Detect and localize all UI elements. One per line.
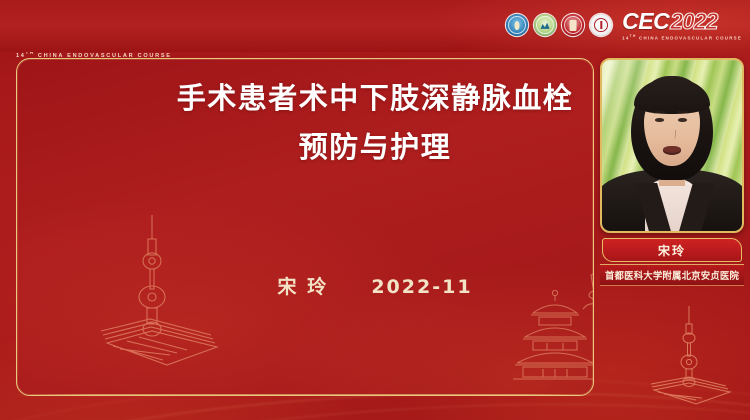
header-cec-sub-text: CHINA ENDOVASCULAR COURSE	[639, 35, 742, 40]
org-logo-1-icon	[506, 14, 528, 36]
speaker-mouth	[663, 146, 681, 155]
header-cec-word: CEC	[622, 10, 669, 33]
speaker-name-label: 宋玲	[658, 242, 686, 259]
slide-cec-sub-text: CHINA ENDOVASCULAR COURSE	[38, 53, 172, 59]
badge-mark	[515, 21, 520, 30]
header-cec-subtitle: 14TH CHINA ENDOVASCULAR COURSE	[622, 35, 742, 41]
header-cec-brand: CEC 2022 14TH CHINA ENDOVASCULAR COURSE	[622, 10, 742, 41]
speaker-affiliation-plate: 首都医科大学附属北京安贞医院	[600, 264, 744, 286]
org-logo-4-icon	[590, 14, 612, 36]
header-cec-row: CEC 2022	[622, 10, 717, 33]
frame-bottom-glow	[16, 394, 594, 396]
presentation-date: 2022-11	[371, 276, 472, 298]
presentation-slide-screenshot: CEC 2022 14TH CHINA ENDOVASCULAR COURSE	[0, 0, 750, 420]
org-logo-2-icon	[534, 14, 556, 36]
org-logo-3-icon	[562, 14, 584, 36]
speaker-eye-left	[655, 118, 664, 122]
temple-of-heaven-icon	[507, 239, 594, 389]
speaker-hair-fringe	[634, 78, 710, 114]
header-cec-year: 2022	[670, 10, 717, 33]
speaker-video-feed[interactable]	[600, 58, 744, 233]
header-cec-ordinal-suffix: TH	[630, 34, 637, 38]
speaker-figure	[602, 60, 742, 231]
presenter-name: 宋 玲	[277, 276, 328, 298]
speaker-eye-right	[678, 118, 687, 122]
badge-ring	[536, 16, 554, 34]
speaker-name-plate: 宋玲	[602, 238, 742, 262]
speaker-video-panel[interactable]: 宋玲 首都医科大学附属北京安贞医院	[600, 58, 744, 293]
header-logo-group: CEC 2022 14TH CHINA ENDOVASCULAR COURSE	[506, 10, 742, 40]
badge-mark	[570, 20, 577, 31]
slide-cec-ordinal: 14	[16, 53, 26, 59]
header-cec-ordinal: 14	[622, 35, 629, 40]
speaker-affiliation-label: 首都医科大学附属北京安贞医院	[605, 268, 739, 282]
speaker-nose	[671, 130, 676, 139]
badge-mark	[594, 18, 608, 32]
